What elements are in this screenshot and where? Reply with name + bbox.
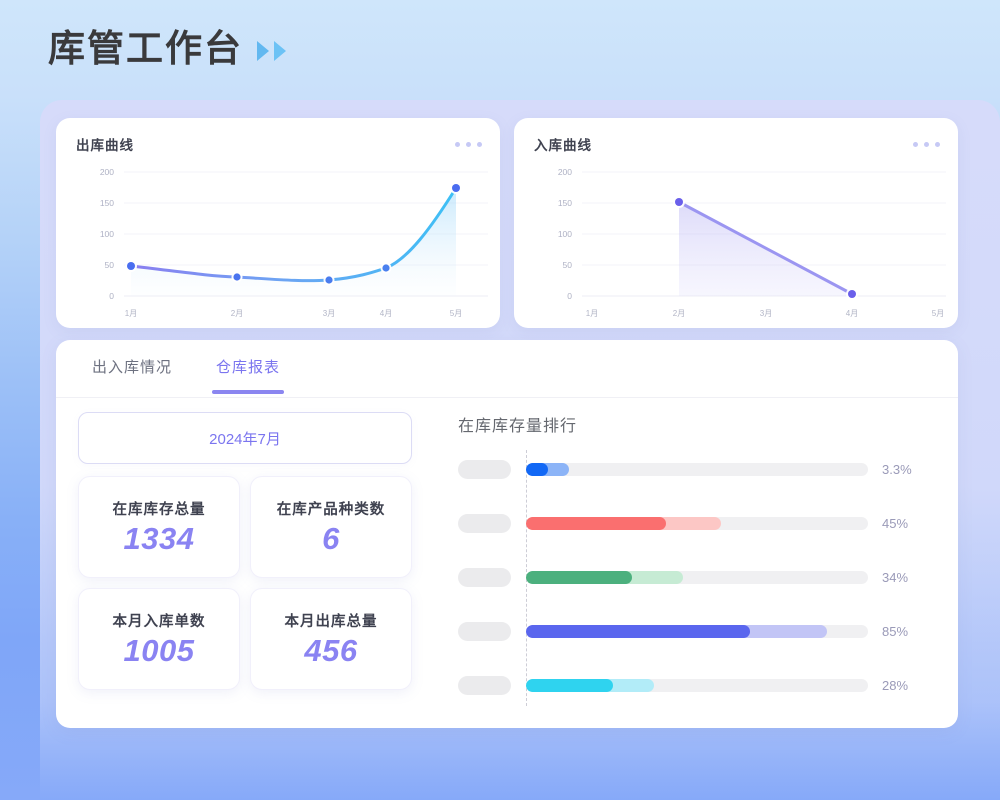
ranking-bar-track [526, 463, 868, 476]
ranking-percent: 45% [882, 516, 934, 531]
ranking-bar-dark [526, 517, 666, 530]
stat-label: 在库库存总量 [113, 498, 206, 519]
report-panel: 出入库情况 仓库报表 2024年7月 在库库存总量 1334 在库产品种类数 6… [56, 340, 958, 728]
ranking-bar-track [526, 625, 868, 638]
stat-card-product-types[interactable]: 在库产品种类数 6 [250, 476, 412, 578]
svg-text:2月: 2月 [673, 309, 685, 318]
svg-text:100: 100 [558, 229, 572, 239]
svg-text:4月: 4月 [846, 309, 858, 318]
ranking-row[interactable]: 85% [458, 620, 934, 642]
svg-text:4月: 4月 [380, 309, 392, 318]
chart-title: 入库曲线 [534, 134, 592, 154]
stat-card-month-outbound-total[interactable]: 本月出库总量 456 [250, 588, 412, 690]
ranking-name-placeholder [458, 622, 511, 641]
tab-warehouse-report[interactable]: 仓库报表 [216, 356, 280, 381]
stat-value: 456 [304, 633, 357, 669]
ranking-bar-dark [526, 571, 632, 584]
inbound-line-chart: 200 150 100 50 0 1月 2月 3月 4月 5月 [514, 158, 958, 326]
more-dots-icon[interactable] [913, 142, 940, 147]
ranking-name-placeholder [458, 514, 511, 533]
ranking-bar-track [526, 679, 868, 692]
more-dots-icon[interactable] [455, 142, 482, 147]
ranking-row[interactable]: 3.3% [458, 458, 934, 480]
app-panel: 出库曲线 [40, 100, 1000, 800]
svg-text:1月: 1月 [125, 309, 137, 318]
stat-value: 1005 [124, 633, 195, 669]
svg-text:3月: 3月 [323, 309, 335, 318]
svg-text:200: 200 [558, 167, 572, 177]
arrow-icon [257, 41, 269, 61]
svg-text:2月: 2月 [231, 309, 243, 318]
ranking-percent: 85% [882, 624, 934, 639]
stat-label: 在库产品种类数 [277, 498, 386, 519]
ranking-bar-track [526, 571, 868, 584]
chart-title: 出库曲线 [76, 134, 134, 154]
svg-text:50: 50 [105, 260, 115, 270]
stat-card-grid: 在库库存总量 1334 在库产品种类数 6 本月入库单数 1005 本月出库总量… [78, 476, 422, 690]
stat-card-month-inbound-orders[interactable]: 本月入库单数 1005 [78, 588, 240, 690]
svg-text:50: 50 [563, 260, 573, 270]
inbound-chart-card: 入库曲线 200 150 100 50 0 [514, 118, 958, 328]
stats-column: 2024年7月 在库库存总量 1334 在库产品种类数 6 本月入库单数 100… [78, 412, 428, 690]
ranking-bar-dark [526, 625, 750, 638]
date-selector[interactable]: 2024年7月 [78, 412, 412, 464]
svg-text:0: 0 [567, 291, 572, 301]
svg-text:1月: 1月 [586, 309, 598, 318]
svg-text:0: 0 [109, 291, 114, 301]
ranking-section: 在库库存量排行 3.3% 45% [458, 412, 934, 696]
arrow-icon [274, 41, 286, 61]
svg-text:150: 150 [100, 198, 114, 208]
ranking-bar-dark [526, 463, 548, 476]
stat-card-total-inventory[interactable]: 在库库存总量 1334 [78, 476, 240, 578]
double-right-arrow-icon [257, 41, 286, 61]
ranking-percent: 34% [882, 570, 934, 585]
ranking-list: 3.3% 45% 34% [458, 458, 934, 696]
svg-text:200: 200 [100, 167, 114, 177]
tab-inbound-outbound[interactable]: 出入库情况 [92, 356, 172, 381]
ranking-row[interactable]: 34% [458, 566, 934, 588]
ranking-name-placeholder [458, 568, 511, 587]
svg-text:100: 100 [100, 229, 114, 239]
ranking-name-placeholder [458, 676, 511, 695]
svg-text:5月: 5月 [450, 309, 462, 318]
svg-text:3月: 3月 [760, 309, 772, 318]
stat-label: 本月入库单数 [113, 610, 206, 631]
svg-text:5月: 5月 [932, 309, 944, 318]
outbound-chart-card: 出库曲线 [56, 118, 500, 328]
card-header: 入库曲线 [534, 134, 940, 154]
stat-value: 6 [322, 521, 340, 557]
page-title: 库管工作台 [48, 30, 243, 67]
stat-label: 本月出库总量 [285, 610, 378, 631]
ranking-percent: 3.3% [882, 462, 934, 477]
ranking-bar-dark [526, 679, 613, 692]
stat-value: 1334 [124, 521, 195, 557]
svg-text:150: 150 [558, 198, 572, 208]
ranking-name-placeholder [458, 460, 511, 479]
tab-bar: 出入库情况 仓库报表 [56, 340, 958, 398]
ranking-percent: 28% [882, 678, 934, 693]
ranking-row[interactable]: 45% [458, 512, 934, 534]
card-header: 出库曲线 [76, 134, 482, 154]
outbound-line-chart: 200 150 100 50 0 [56, 158, 500, 326]
ranking-title: 在库库存量排行 [458, 412, 934, 436]
page-title-bar: 库管工作台 [48, 30, 286, 67]
ranking-bar-track [526, 517, 868, 530]
ranking-row[interactable]: 28% [458, 674, 934, 696]
